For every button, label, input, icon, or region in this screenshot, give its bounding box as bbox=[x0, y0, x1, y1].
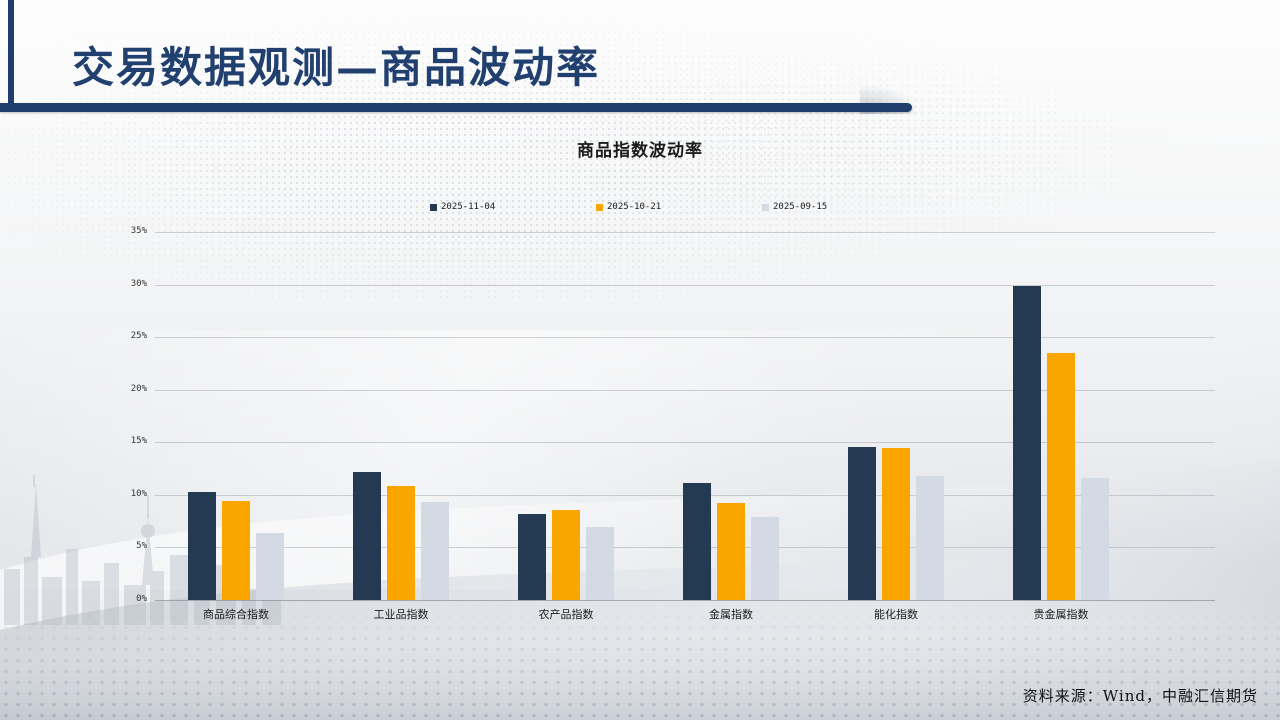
legend-item[interactable]: 2025-11-04 bbox=[430, 202, 495, 212]
chart-bar[interactable] bbox=[1047, 353, 1075, 600]
y-axis-tick-label: 10% bbox=[87, 489, 147, 499]
y-axis-tick-label: 25% bbox=[87, 331, 147, 341]
chart-bar[interactable] bbox=[222, 501, 250, 600]
chart-bar[interactable] bbox=[518, 514, 546, 600]
y-axis-tick-label: 15% bbox=[87, 436, 147, 446]
y-axis-tick-label: 30% bbox=[87, 279, 147, 289]
page-title: 交易数据观测—商品波动率 bbox=[72, 34, 600, 95]
chart-gridline bbox=[155, 232, 1215, 233]
x-axis-category-label: 农产品指数 bbox=[539, 606, 594, 622]
y-axis-tick-label: 35% bbox=[87, 226, 147, 236]
chart-bar[interactable] bbox=[882, 448, 910, 600]
chart-bar[interactable] bbox=[1081, 478, 1109, 600]
chart-bar[interactable] bbox=[1013, 286, 1041, 600]
legend-swatch-icon bbox=[430, 204, 437, 211]
legend-swatch-icon bbox=[596, 204, 603, 211]
chart-bar[interactable] bbox=[916, 476, 944, 600]
chart-bar[interactable] bbox=[586, 527, 614, 600]
legend-item[interactable]: 2025-10-21 bbox=[596, 202, 661, 212]
y-axis-tick-label: 5% bbox=[87, 541, 147, 551]
source-note: 资料来源：Wind，中融汇信期货 bbox=[1023, 685, 1258, 706]
legend-item-label: 2025-09-15 bbox=[773, 202, 827, 212]
chart-bar[interactable] bbox=[848, 447, 876, 601]
chart-bar[interactable] bbox=[751, 517, 779, 600]
x-axis-category-label: 金属指数 bbox=[709, 606, 753, 622]
chart-gridline bbox=[155, 285, 1215, 286]
y-axis-tick-label: 20% bbox=[87, 384, 147, 394]
chart-gridline bbox=[155, 337, 1215, 338]
chart-bar[interactable] bbox=[717, 503, 745, 600]
x-axis-category-label: 工业品指数 bbox=[374, 606, 429, 622]
y-axis-tick-label: 0% bbox=[87, 594, 147, 604]
chart-axis-line bbox=[155, 600, 1215, 601]
title-underline-band bbox=[0, 103, 912, 112]
chart-bar[interactable] bbox=[387, 486, 415, 600]
x-axis-category-label: 能化指数 bbox=[874, 606, 918, 622]
legend-item-label: 2025-11-04 bbox=[441, 202, 495, 212]
chart-legend: 2025-11-042025-10-212025-09-15 bbox=[430, 202, 860, 218]
chart-title: 商品指数波动率 bbox=[0, 136, 1280, 161]
chart-bar[interactable] bbox=[353, 472, 381, 600]
legend-swatch-icon bbox=[762, 204, 769, 211]
chart-bar[interactable] bbox=[188, 492, 216, 600]
x-axis-category-label: 贵金属指数 bbox=[1034, 606, 1089, 622]
x-axis-category-label: 商品综合指数 bbox=[203, 606, 269, 622]
slide-canvas: 交易数据观测—商品波动率 商品指数波动率 2025-11-042025-10-2… bbox=[0, 0, 1280, 720]
chart-bar[interactable] bbox=[256, 533, 284, 600]
chart-container: 商品指数波动率 2025-11-042025-10-212025-09-15 0… bbox=[0, 120, 1280, 640]
chart-bar[interactable] bbox=[421, 502, 449, 600]
chart-plot-area: 0%5%10%15%20%25%30%35%商品综合指数工业品指数农产品指数金属… bbox=[155, 232, 1215, 600]
header-left-accent-bar bbox=[8, 0, 14, 109]
legend-item[interactable]: 2025-09-15 bbox=[762, 202, 827, 212]
chart-bar[interactable] bbox=[552, 510, 580, 600]
legend-item-label: 2025-10-21 bbox=[607, 202, 661, 212]
chart-bar[interactable] bbox=[683, 483, 711, 600]
